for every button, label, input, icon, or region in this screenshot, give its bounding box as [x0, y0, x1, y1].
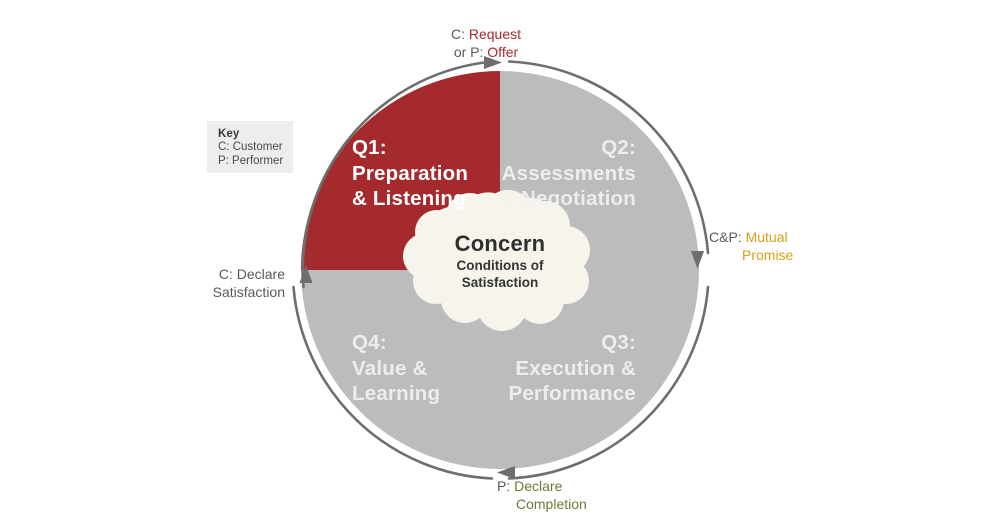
quadrant-q4-line3: Learning — [352, 381, 440, 407]
key-title: Key — [218, 127, 293, 141]
callout-bottom-line1-prefix: P: — [497, 478, 514, 494]
callout-top-line1: C: Request — [411, 26, 561, 44]
quadrant-label-q3: Q3: Execution & Performance — [508, 330, 636, 407]
callout-bottom-line1: P: Declare — [497, 478, 587, 496]
quadrant-q3-title: Q3: — [508, 330, 636, 356]
callout-right-mutual-promise: C&P: Mutual Promise — [709, 229, 793, 264]
callout-right-line1-prefix: C&P: — [709, 229, 746, 245]
key-line-customer: C: Customer — [218, 141, 293, 155]
key-legend-box: Key C: Customer P: Performer — [207, 121, 293, 173]
quadrant-q2-title: Q2: — [500, 135, 636, 161]
callout-top-line1-word: Request — [469, 26, 521, 42]
callout-right-line1-word: Mutual — [746, 229, 788, 245]
key-line-performer: P: Performer — [218, 155, 293, 169]
callout-right-line2-word: Promise — [742, 247, 793, 263]
quadrant-q1-line2: Preparation — [352, 161, 468, 187]
quadrant-q2-line2: Assessments — [500, 161, 636, 187]
quadrant-q1-title: Q1: — [352, 135, 468, 161]
diagram-canvas: Key C: Customer P: Performer Q1: Prepara… — [0, 0, 1004, 522]
quadrant-q2-line3: & Negotiation — [500, 186, 636, 212]
quadrant-label-q2: Q2: Assessments & Negotiation — [500, 135, 636, 212]
callout-top-line2: or P: Offer — [411, 44, 561, 62]
callout-right-line1: C&P: Mutual — [709, 229, 793, 247]
callout-left-line1: C: Declare — [205, 266, 285, 284]
callout-top-line2-prefix: or P: — [454, 44, 487, 60]
quadrant-q4-title: Q4: — [352, 330, 440, 356]
cycle-diagram-graphic — [0, 0, 1004, 522]
callout-bottom-line2-word: Completion — [516, 496, 587, 512]
quadrant-q3-line2: Execution & — [508, 356, 636, 382]
callout-bottom-line1-word: Declare — [514, 478, 562, 494]
quadrant-q4-line2: Value & — [352, 356, 440, 382]
callout-bottom-declare-completion: P: Declare Completion — [497, 478, 587, 513]
quadrant-q1-line3: & Listening — [352, 186, 468, 212]
callout-top-line1-prefix: C: — [451, 26, 469, 42]
callout-left-declare-satisfaction: C: Declare Satisfaction — [205, 266, 285, 301]
quadrant-label-q4: Q4: Value & Learning — [352, 330, 440, 407]
callout-top-line2-word: Offer — [487, 44, 518, 60]
callout-bottom-line2: Completion — [497, 496, 587, 514]
callout-left-line2: Satisfaction — [205, 284, 285, 302]
callout-top-request-offer: C: Request or P: Offer — [411, 26, 561, 61]
callout-right-line2: Promise — [709, 247, 793, 265]
quadrant-label-q1: Q1: Preparation & Listening — [352, 135, 468, 212]
quadrant-q3-line3: Performance — [508, 381, 636, 407]
